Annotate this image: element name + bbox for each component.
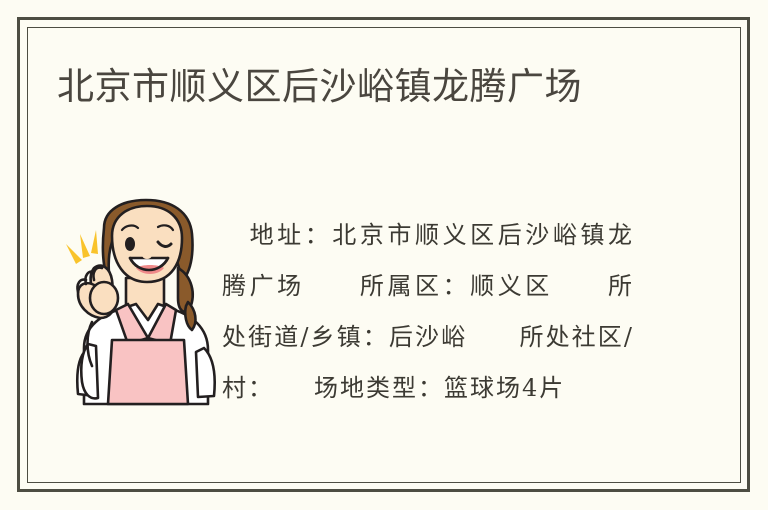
page-title: 北京市顺义区后沙峪镇龙腾广场 [57, 63, 582, 111]
mascot-illustration [52, 198, 232, 408]
venue-info-card: 北京市顺义区后沙峪镇龙腾广场 [0, 0, 768, 510]
woman-figure [77, 200, 214, 404]
sparkle-icon [66, 230, 98, 264]
venue-detail-text: 地址：北京市顺义区后沙峪镇龙腾广场 所属区：顺义区 所处街道/乡镇：后沙峪 所处… [222, 210, 634, 414]
